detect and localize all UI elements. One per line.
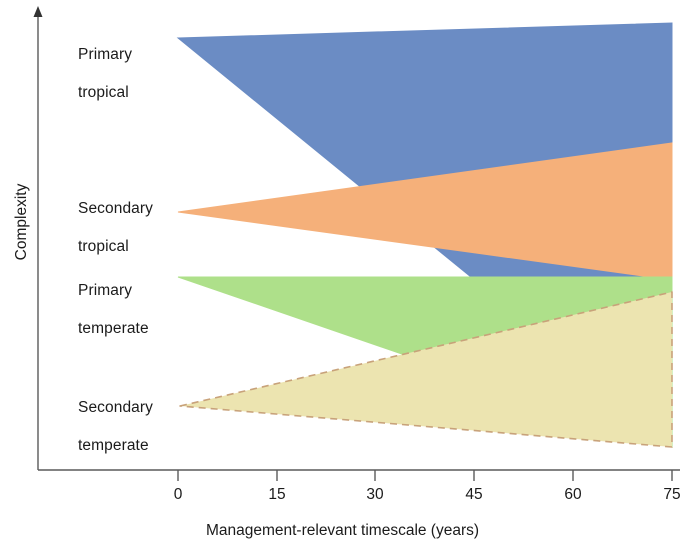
x-tick-label-60: 60 xyxy=(553,486,593,504)
y-axis-title: Complexity xyxy=(13,142,31,302)
label-primary-tropical: Primary tropical xyxy=(78,26,132,102)
label-secondary-temperate-line2: temperate xyxy=(78,437,149,454)
x-tick-label-15: 15 xyxy=(257,486,297,504)
y-axis-arrow-icon xyxy=(34,6,43,17)
label-secondary-temperate: Secondary temperate xyxy=(78,379,153,455)
x-tick-label-45: 45 xyxy=(454,486,494,504)
x-tick-label-0: 0 xyxy=(158,486,198,504)
label-secondary-tropical-line1: Secondary xyxy=(78,200,153,217)
label-secondary-tropical-line2: tropical xyxy=(78,238,129,255)
label-primary-temperate-line2: temperate xyxy=(78,320,149,337)
label-secondary-tropical: Secondary tropical xyxy=(78,180,153,256)
wedges-group xyxy=(178,23,672,447)
label-primary-temperate-line1: Primary xyxy=(78,282,132,299)
label-primary-temperate: Primary temperate xyxy=(78,262,149,338)
label-primary-tropical-line1: Primary xyxy=(78,46,132,63)
x-tick-label-75: 75 xyxy=(652,486,685,504)
x-axis-ticks xyxy=(178,470,672,481)
label-primary-tropical-line2: tropical xyxy=(78,84,129,101)
x-tick-label-30: 30 xyxy=(355,486,395,504)
x-axis-title: Management-relevant timescale (years) xyxy=(0,522,685,540)
label-secondary-temperate-line1: Secondary xyxy=(78,399,153,416)
chart-canvas: Primary tropical Secondary tropical Prim… xyxy=(0,0,685,549)
